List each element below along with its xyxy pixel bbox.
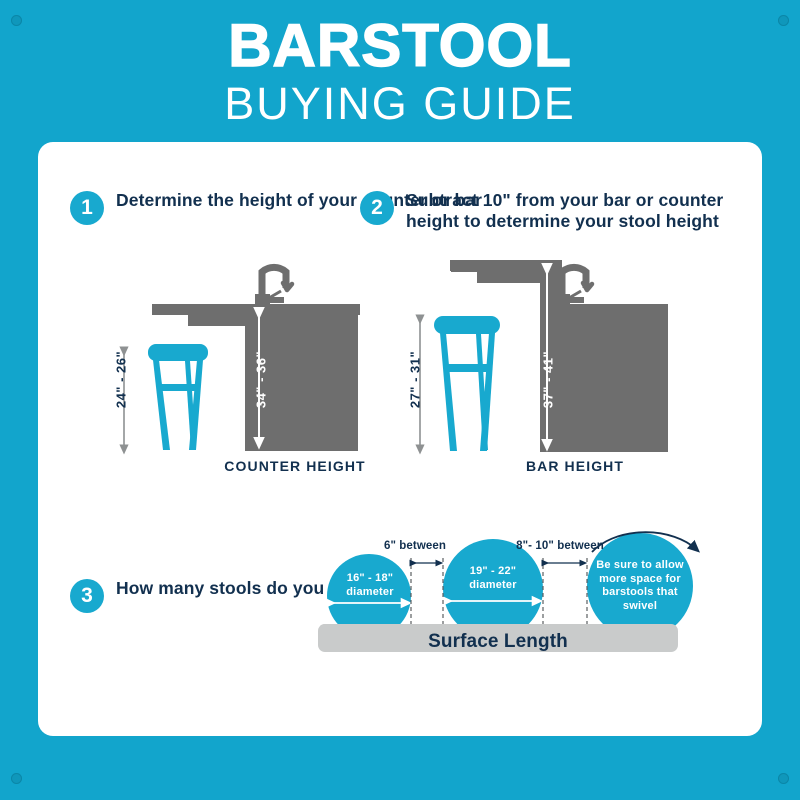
bar-surface-height-label: 37" - 41" [541, 345, 556, 415]
gap-guide-2 [543, 558, 587, 624]
bar-height-caption: BAR HEIGHT [455, 458, 695, 474]
gap-2-label: 8"- 10" between [505, 540, 615, 552]
circle-1-unit: diameter [330, 586, 410, 600]
circle-2-unit: diameter [443, 579, 543, 593]
circle-2-label: 19" - 22" diameter [443, 565, 543, 592]
counter-step [188, 315, 252, 326]
bar-stool-height-label: 27" - 31" [408, 345, 423, 415]
counter-stool-icon [148, 344, 208, 450]
counter-height-caption: COUNTER HEIGHT [170, 458, 420, 474]
circle-1-diameter: 16" - 18" [330, 572, 410, 586]
counter-stool-height-label: 24" - 26" [114, 345, 129, 415]
circle-2-diameter: 19" - 22" [443, 565, 543, 579]
gap-1-label: 6" between [380, 540, 450, 552]
bar-top-slab [451, 260, 553, 272]
faucet-icon [255, 267, 292, 306]
bar-main-block [540, 260, 668, 452]
gap-guide-1 [411, 558, 443, 624]
swivel-note: Be sure to allow more space for barstool… [585, 559, 695, 613]
counter-surface-height-label: 34" - 36" [254, 345, 269, 415]
bar-step [477, 272, 545, 283]
circle-1-label: 16" - 18" diameter [330, 572, 410, 599]
bar-lower-counter-top [556, 304, 668, 316]
bar-stool-icon [434, 316, 500, 451]
counter-scene [124, 267, 360, 451]
infographic-canvas: BARSTOOL BUYING GUIDE 1 Determine the he… [0, 0, 800, 800]
surface-length-label: Surface Length [318, 631, 678, 653]
